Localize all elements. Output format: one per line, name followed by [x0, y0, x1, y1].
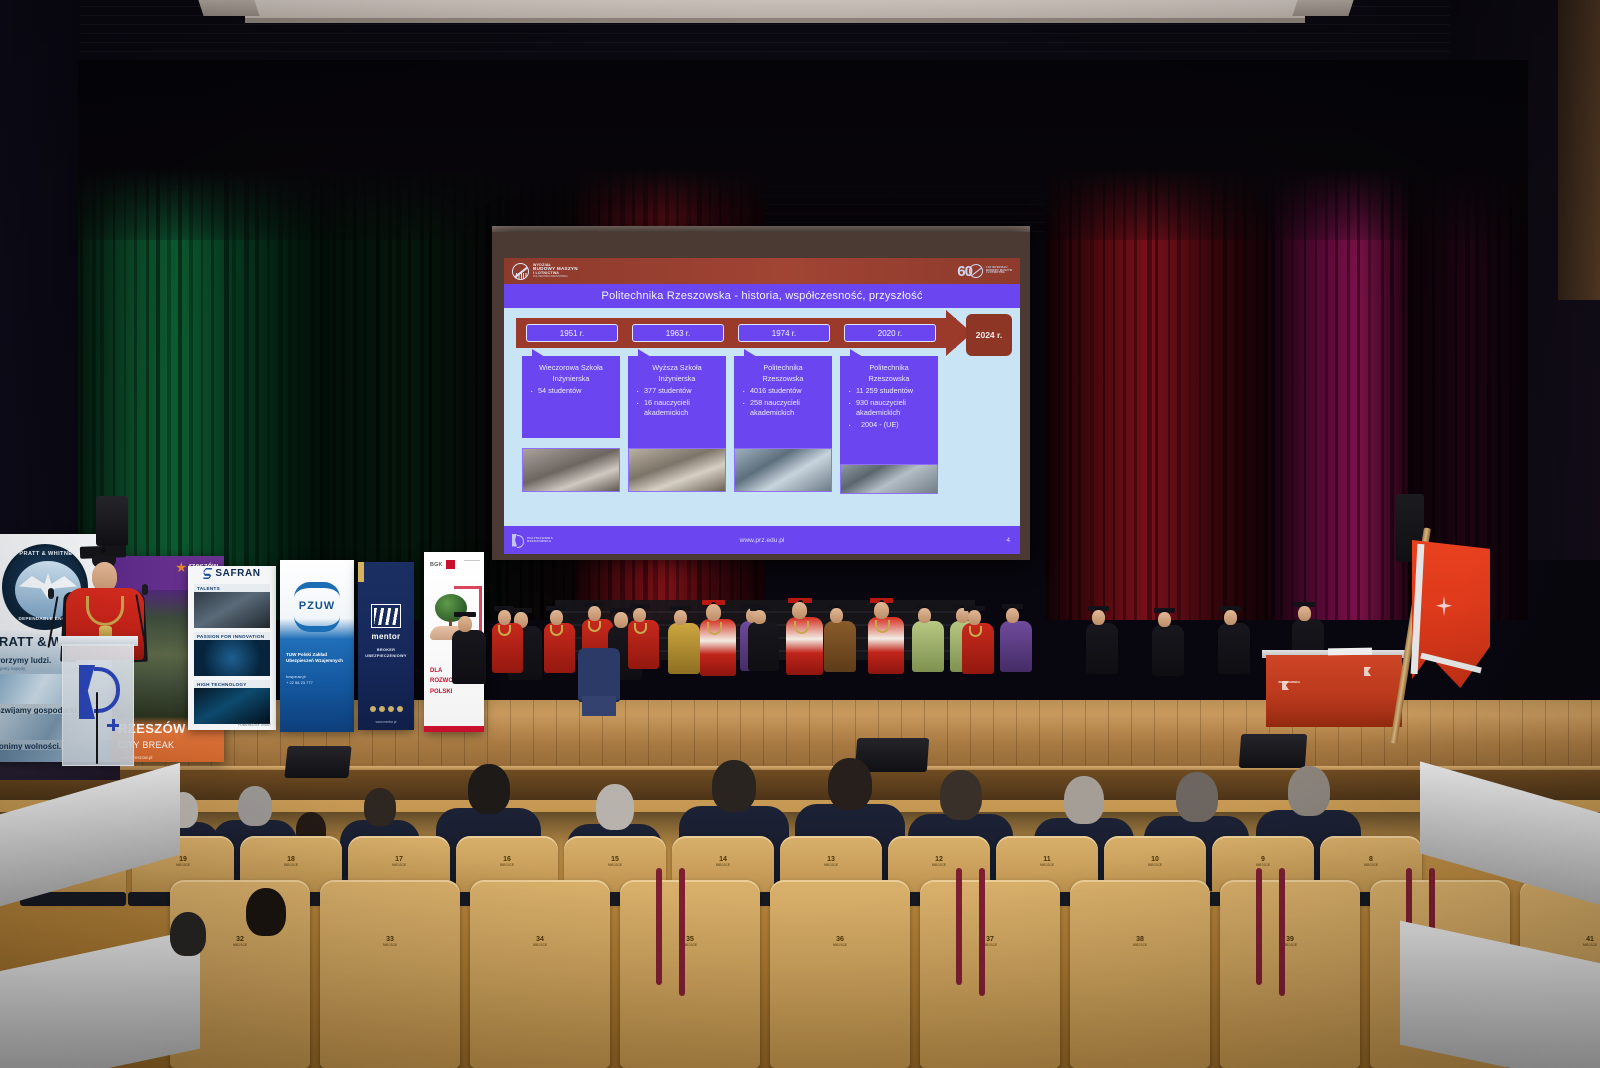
safran-section-0-label: TALENTS — [194, 584, 270, 592]
seat-number: 16MIEJSCE — [456, 856, 558, 867]
faculty-logo: WYDZIAŁ BUDOWY MASZYN I LOTNICTWA POLITE… — [512, 263, 578, 280]
timeline-end-marker: 2024 r. — [966, 314, 1012, 356]
dignitary-robe — [1086, 623, 1118, 674]
audience-member-head — [1176, 772, 1218, 822]
valance-wing-right — [1292, 0, 1355, 16]
pr-logo-cross-icon — [107, 719, 119, 731]
audience-seat[interactable]: 33MIEJSCE — [320, 880, 460, 1068]
audience-member-head — [246, 888, 286, 936]
empty-chair — [578, 648, 620, 700]
dignitary-head — [1158, 612, 1171, 627]
mentor-social-icons — [358, 706, 414, 712]
timeline-entry-1-bullet-0: 377 studentów — [633, 386, 721, 397]
seat-number: 38MIEJSCE — [1070, 936, 1210, 947]
anniversary-60-icon: 60 — [957, 264, 983, 279]
seat-number: 33MIEJSCE — [320, 936, 460, 947]
audience-member-head — [828, 758, 872, 810]
seat-number: 35MIEJSCE — [620, 936, 760, 947]
slide-page-number: 4 — [1006, 537, 1010, 544]
stage-speaker-left — [96, 496, 128, 546]
ceiling-slat — [0, 51, 1600, 52]
proscenium-valance — [245, 0, 1305, 20]
timeline-photo-0 — [522, 448, 620, 492]
mentor-banner: mentor BROKER UBEZPIECZENIOWY www.mentor… — [358, 562, 414, 730]
slide-body: 1951 r. 1963 r. 1974 r. 2020 r. 2024 r. … — [504, 308, 1020, 526]
ceiling-slat — [0, 24, 1600, 25]
seat-reserved-strap — [679, 868, 685, 996]
slide-title: Politechnika Rzeszowska - historia, wspó… — [504, 284, 1020, 308]
audience-seat[interactable]: 34MIEJSCE — [470, 880, 610, 1068]
audience-seat[interactable]: 35MIEJSCE — [620, 880, 760, 1068]
timeline-entry-3-bullet-0: 11 259 studentów — [845, 386, 933, 397]
audience-seat[interactable]: 37MIEJSCE — [920, 880, 1060, 1068]
timeline-entry-2-heading2: Rzeszowska — [739, 374, 827, 385]
dignitary-head — [706, 604, 721, 621]
proscenium-valance-lip — [245, 18, 1305, 23]
safran-brand: SAFRAN — [215, 568, 260, 579]
dignitary-robe — [452, 630, 486, 684]
pw-line-1-sub: Budujemy napędy. — [0, 666, 26, 671]
timeline-entry-3: Politechnika Rzeszowska 11 259 studentów… — [840, 356, 938, 466]
bgk-brand: BGK — [430, 562, 443, 568]
audience-seat[interactable]: 39MIEJSCE — [1220, 880, 1360, 1068]
dignitary-head — [1224, 610, 1237, 625]
auditorium-photo: WYDZIAŁ BUDOWY MASZYN I LOTNICTWA POLITE… — [0, 0, 1600, 1068]
microphone-head-left — [48, 588, 54, 599]
dignitary-robe — [912, 621, 944, 672]
safran-photo-0 — [194, 592, 270, 628]
seat-number: 8MIEJSCE — [1320, 856, 1422, 867]
seat-number: 36MIEJSCE — [770, 936, 910, 947]
safran-footer: POWERED BY TRUST — [238, 723, 271, 727]
dignitary-robe — [1152, 625, 1184, 676]
seat-reserved-strap — [956, 868, 962, 985]
seat-reserved-strap — [1279, 868, 1285, 996]
anniversary-line3: I LOTNICTWA — [986, 272, 1012, 275]
dignitary-robe — [748, 622, 779, 671]
seat-number: 17MIEJSCE — [348, 856, 450, 867]
mic-cable — [96, 692, 98, 764]
dignitary-head — [458, 616, 472, 632]
floor-monitor-right — [1239, 734, 1307, 768]
seat-reserved-strap — [979, 868, 985, 996]
anniversary-logo: 60 LAT WYDZIAŁU BUDOWY MASZYN I LOTNICTW… — [957, 264, 1012, 279]
timeline-photo-3 — [840, 464, 938, 494]
mentor-url: www.mentor.pl — [358, 720, 414, 724]
pzuw-arc-top-icon — [294, 582, 340, 598]
dignitary-head — [588, 606, 601, 621]
dignitary-head — [830, 608, 843, 623]
timeline-entry-3-extra: 2004 - (UE) — [845, 420, 933, 431]
dignitary-robe — [1000, 621, 1032, 672]
seat-number: 39MIEJSCE — [1220, 936, 1360, 947]
seat-number: 41MIEJSCE — [1520, 936, 1600, 947]
audience-member-head — [238, 786, 272, 826]
table-logo-right — [1364, 667, 1382, 677]
seat-reserved-strap — [1256, 868, 1262, 985]
bgk-square-icon — [446, 560, 455, 569]
table-logo-left: POLITECHNIKARZESZOWSKA — [1282, 681, 1300, 691]
safran-photo-2 — [194, 688, 270, 724]
mentor-brand: mentor — [358, 632, 414, 641]
pzuw-arc-bottom-icon — [294, 616, 340, 632]
timeline-entry-3-heading1: Politechnika — [845, 363, 933, 374]
audience-seat[interactable]: 38MIEJSCE — [1070, 880, 1210, 1068]
dignitary-head — [614, 612, 628, 628]
timeline-year-3: 2020 r. — [844, 324, 936, 342]
dignitary-head — [792, 602, 807, 619]
dignitary-robe — [1218, 623, 1250, 674]
slide-header: WYDZIAŁ BUDOWY MASZYN I LOTNICTWA POLITE… — [504, 258, 1020, 284]
seat-number: 12MIEJSCE — [888, 856, 990, 867]
pw-line-1: Tworzymy ludzi. — [0, 656, 51, 665]
dignitary-head — [918, 608, 931, 623]
dignitary-head — [753, 610, 766, 624]
presidium-table: POLITECHNIKARZESZOWSKA — [1266, 655, 1402, 727]
pzuw-subtitle-2: Ubezpieczeń Wzajemnych — [286, 658, 343, 664]
seat-number: 37MIEJSCE — [920, 936, 1060, 947]
audience-member-head — [468, 764, 510, 814]
timeline-entry-1-heading2: Inżynierska — [633, 374, 721, 385]
timeline-year-1: 1963 r. — [632, 324, 724, 342]
dignitary-head — [1006, 608, 1019, 623]
seat-number: 11MIEJSCE — [996, 856, 1098, 867]
timeline-year-0: 1951 r. — [526, 324, 618, 342]
audience-member-head — [1288, 766, 1330, 816]
audience-member-head — [1064, 776, 1104, 824]
seat-number: 18MIEJSCE — [240, 856, 342, 867]
safran-banner: SAFRAN TALENTS PASSION FOR INNOVATION HI… — [188, 566, 276, 730]
pzuw-banner: PZUW TUW Polski Zakład Ubezpieczeń Wzaje… — [280, 560, 354, 732]
slide-footer-url: www.prz.edu.pl — [504, 537, 1020, 544]
dignitary-head — [874, 602, 889, 619]
seat-reserved-strap — [656, 868, 662, 985]
microphone-head-right — [142, 584, 148, 595]
politechnika-rzeszowska-pr-logo — [79, 665, 121, 719]
timeline-entry-0-heading1: Wieczorowa Szkoła — [527, 363, 615, 374]
ceiling-slat — [0, 33, 1600, 34]
dignitary-robe — [824, 621, 856, 672]
audience-member-head — [596, 784, 634, 830]
timeline-entry-3-heading2: Rzeszowska — [845, 374, 933, 385]
safran-section-2-label: HIGH TECHNOLOGY — [194, 680, 270, 688]
seat-number: 14MIEJSCE — [672, 856, 774, 867]
dignitary-head — [550, 610, 563, 625]
dignitary-robe — [668, 623, 700, 674]
audience-member-head — [170, 912, 206, 956]
slide-footer: POLITECHNIKA RZESZOWSKA www.prz.edu.pl 4 — [504, 526, 1020, 554]
seat-number: 13MIEJSCE — [780, 856, 882, 867]
ceiling-slat — [0, 42, 1600, 43]
pw-seal-top-text: PRATT & WHITNEY — [5, 551, 91, 557]
rzeszow-star-icon — [176, 562, 187, 573]
timeline-entry-2-bullet-1: 258 nauczycieli akademickich — [739, 398, 827, 419]
timeline-photo-1 — [628, 448, 726, 492]
hall-wall-left — [0, 0, 80, 560]
dignitary-head — [674, 610, 687, 625]
audience-member-head — [364, 788, 396, 826]
safran-section-1-label: PASSION FOR INNOVATION — [194, 632, 270, 640]
valance-wing-left — [196, 0, 259, 16]
timeline-entry-0-heading2: Inżynierska — [527, 374, 615, 385]
audience-member-head — [940, 770, 982, 820]
timeline-year-2: 1974 r. — [738, 324, 830, 342]
timeline-entry-2: Politechnika Rzeszowska 4016 studentów 2… — [734, 356, 832, 452]
bgk-logo: BGK — [430, 560, 455, 569]
stage-curtain-top-shadow — [78, 60, 1528, 240]
timeline-entry-0: Wieczorowa Szkoła Inżynierska 54 student… — [522, 356, 620, 438]
seat-number: 15MIEJSCE — [564, 856, 666, 867]
timeline-entry-2-bullet-0: 4016 studentów — [739, 386, 827, 397]
timeline-entry-1-heading1: Wyższa Szkoła — [633, 363, 721, 374]
seat-number: 10MIEJSCE — [1104, 856, 1206, 867]
table-documents — [1328, 648, 1372, 656]
dignitary-head — [1092, 610, 1105, 625]
safran-logo: SAFRAN — [188, 568, 276, 579]
timeline-photo-2 — [734, 448, 832, 492]
lectern — [62, 644, 134, 766]
audience-member-head — [712, 760, 756, 812]
pzuw-brand: PZUW — [280, 600, 354, 612]
timeline-entry-3-bullet-1: 930 nauczycieli akademickich — [845, 398, 933, 419]
safran-s-icon — [203, 568, 212, 579]
dignitary-head — [968, 610, 981, 625]
faculty-logo-line4: POLITECHNIKA RZESZOWSKA — [533, 276, 578, 278]
presentation-slide: WYDZIAŁ BUDOWY MASZYN I LOTNICTWA POLITE… — [504, 258, 1020, 554]
table-logo-line2: RZESZOWSKA — [1279, 681, 1300, 685]
mentor-subtitle-2: UBEZPIECZENIOWY — [358, 654, 414, 660]
propeller-circle-icon — [512, 263, 529, 280]
dignitary-head — [1298, 606, 1311, 621]
dignitary-head — [498, 610, 511, 625]
dignitary-head — [633, 608, 646, 622]
seat-number: 34MIEJSCE — [470, 936, 610, 947]
timeline-entry-1-bullet-1: 16 nauczycieli akademickich — [633, 398, 721, 419]
floor-monitor-left — [284, 746, 351, 778]
timeline-entry-1: Wyższa Szkoła Inżynierska 377 studentów … — [628, 356, 726, 452]
seat-number: 9MIEJSCE — [1212, 856, 1314, 867]
hall-wall-right-wood — [1558, 0, 1600, 300]
audience-seat[interactable]: 36MIEJSCE — [770, 880, 910, 1068]
safran-photo-1 — [194, 640, 270, 676]
pzuw-phone: + 22 58 23 777 — [286, 680, 313, 686]
timeline-entry-0-bullet-0: 54 studentów — [527, 386, 615, 397]
timeline-entry-2-heading1: Politechnika — [739, 363, 827, 374]
bgk-tagline-3: POLSKI — [430, 687, 461, 698]
